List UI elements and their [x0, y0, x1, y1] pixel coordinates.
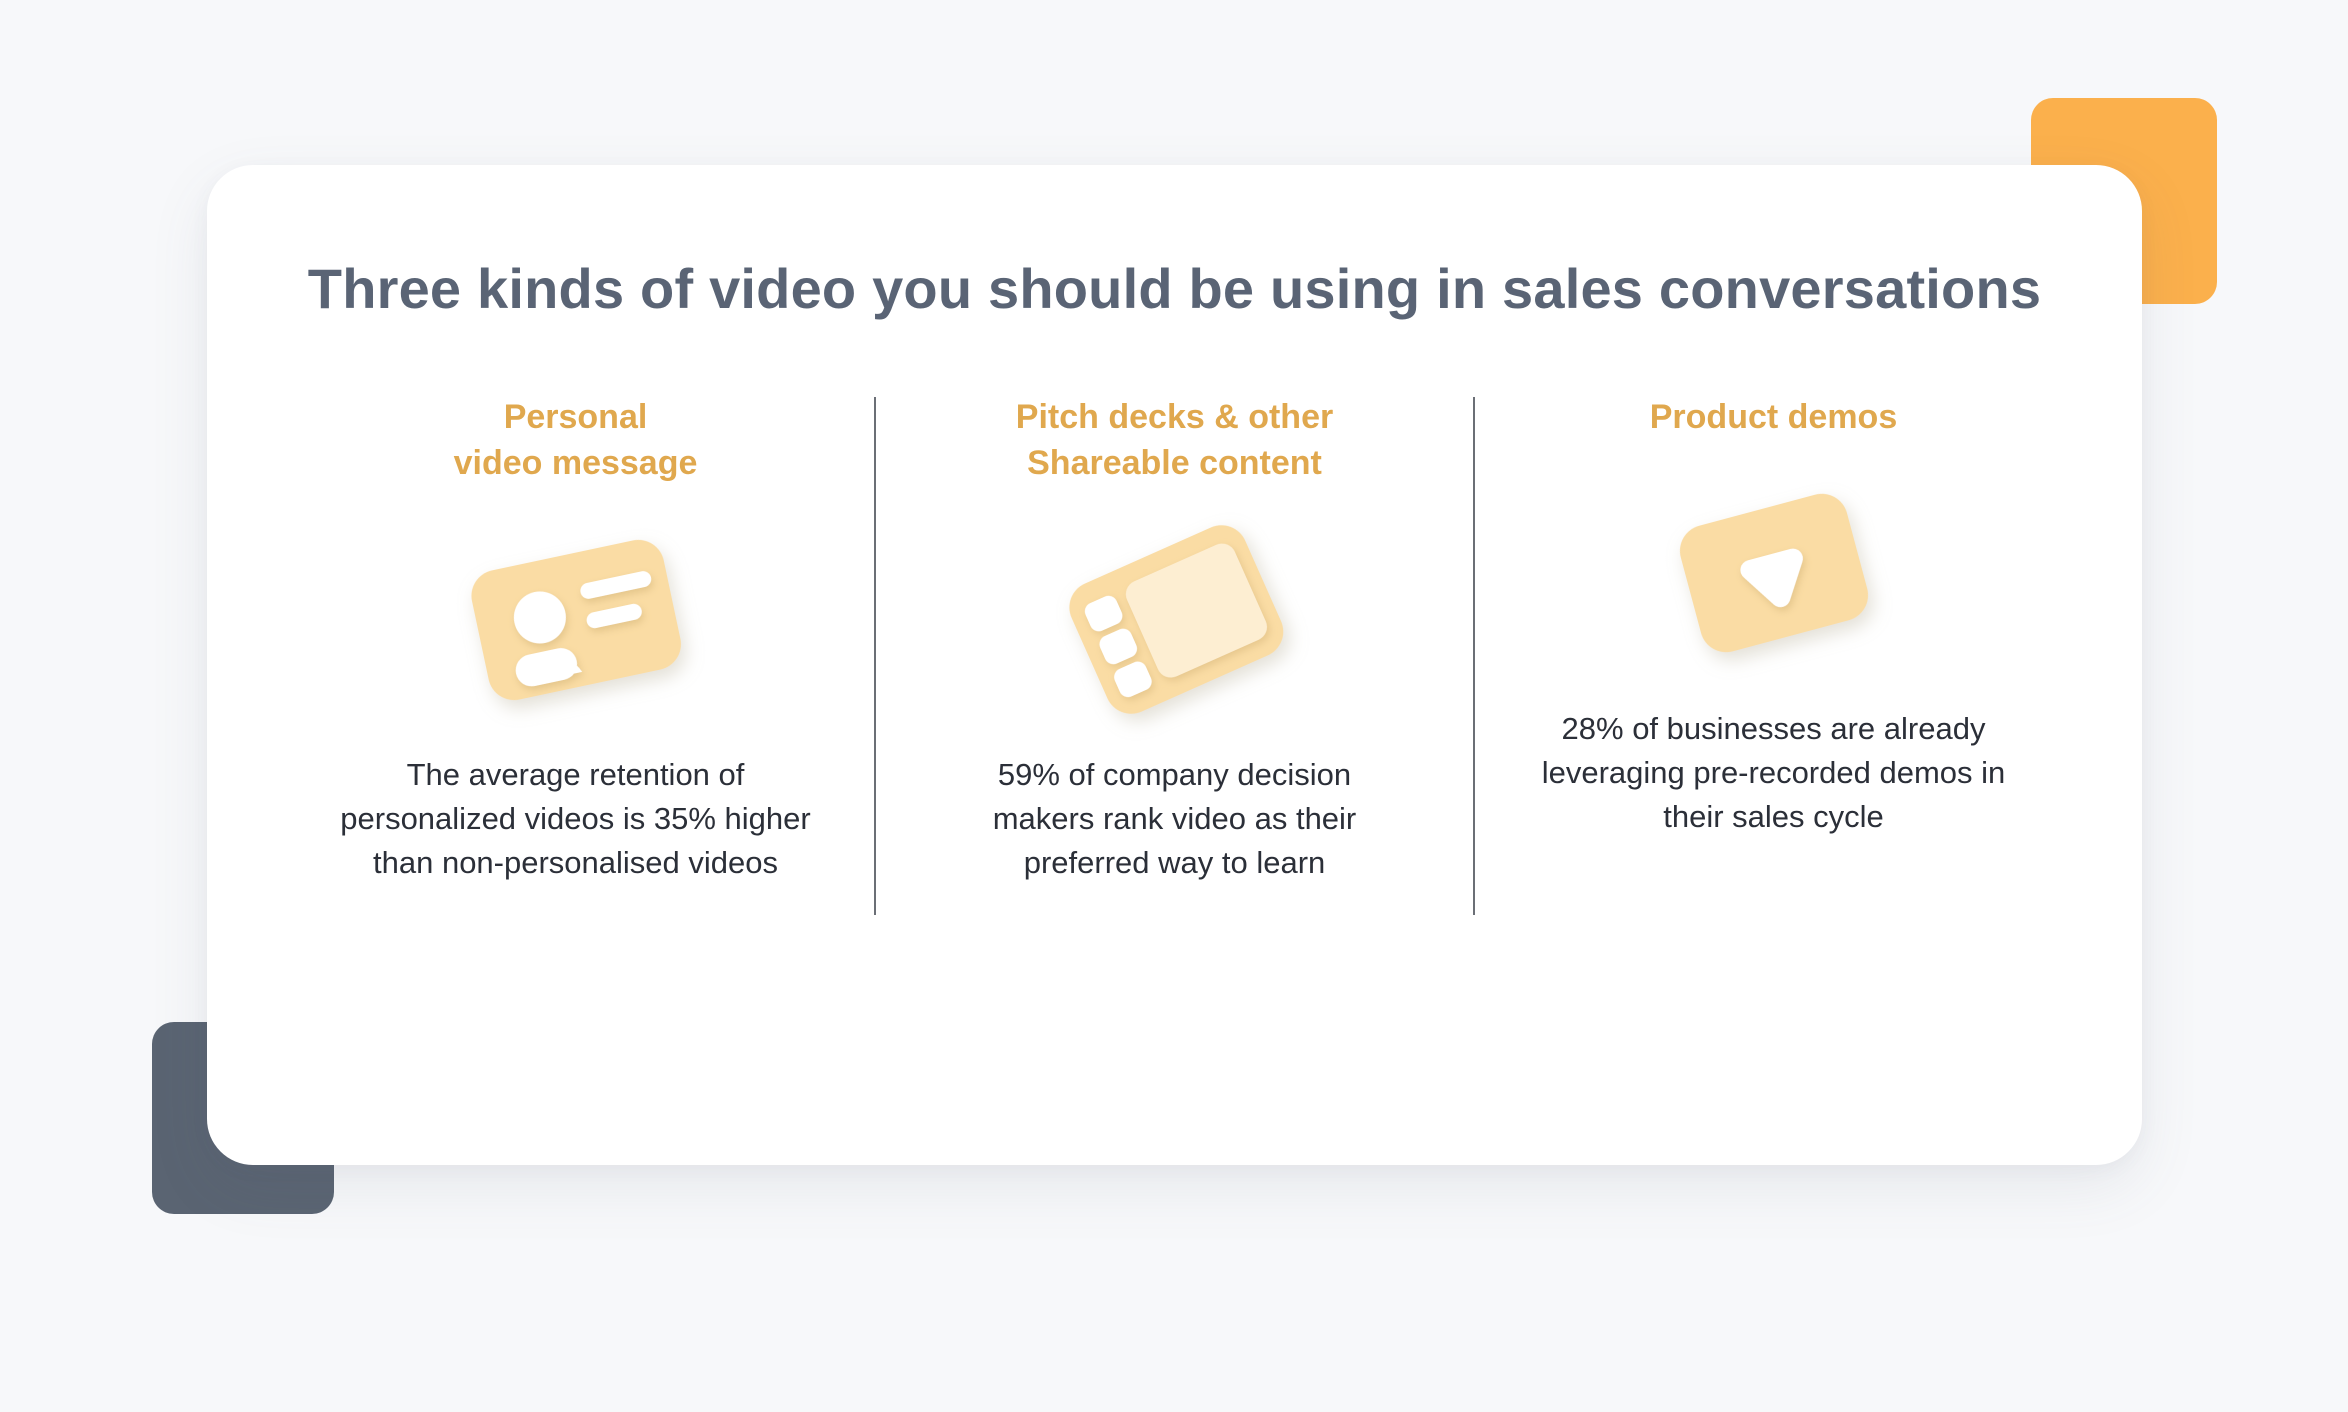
infographic-card: Three kinds of video you should be using…: [207, 165, 2142, 1165]
column-3-heading-line1: Product demos: [1650, 398, 1897, 436]
column-1-heading-line2: video message: [454, 444, 698, 482]
column-1-icon-wrap: [416, 509, 736, 729]
column-1-body: The average retention of personalized vi…: [326, 753, 826, 885]
column-1-heading: Personal video message: [341, 395, 811, 487]
column-personal-video-message: Personal video message: [277, 395, 874, 995]
page-title: Three kinds of video you should be using…: [207, 255, 2142, 322]
column-2-heading-line1: Pitch decks & other: [1016, 398, 1333, 436]
column-1-heading-line1: Personal: [504, 398, 648, 436]
column-3-heading: Product demos: [1539, 395, 2009, 441]
personal-video-message-icon: [446, 524, 706, 714]
column-2-body: 59% of company decision makers rank vide…: [945, 753, 1405, 885]
column-product-demos: Product demos: [1475, 395, 2072, 995]
column-2-heading: Pitch decks & other Shareable content: [940, 395, 1410, 487]
infographic-stage: Three kinds of video you should be using…: [0, 0, 2348, 1412]
columns-container: Personal video message: [277, 395, 2072, 995]
column-2-heading-line2: Shareable content: [1027, 444, 1322, 482]
column-3-icon-wrap: [1614, 463, 1934, 683]
play-button-video-icon: [1644, 478, 1904, 668]
column-2-icon-wrap: [1015, 509, 1335, 729]
pitch-deck-slides-icon: [1045, 524, 1305, 714]
column-3-body: 28% of businesses are already leveraging…: [1534, 707, 2014, 839]
column-pitch-decks: Pitch decks & other Shareable content: [876, 395, 1473, 995]
